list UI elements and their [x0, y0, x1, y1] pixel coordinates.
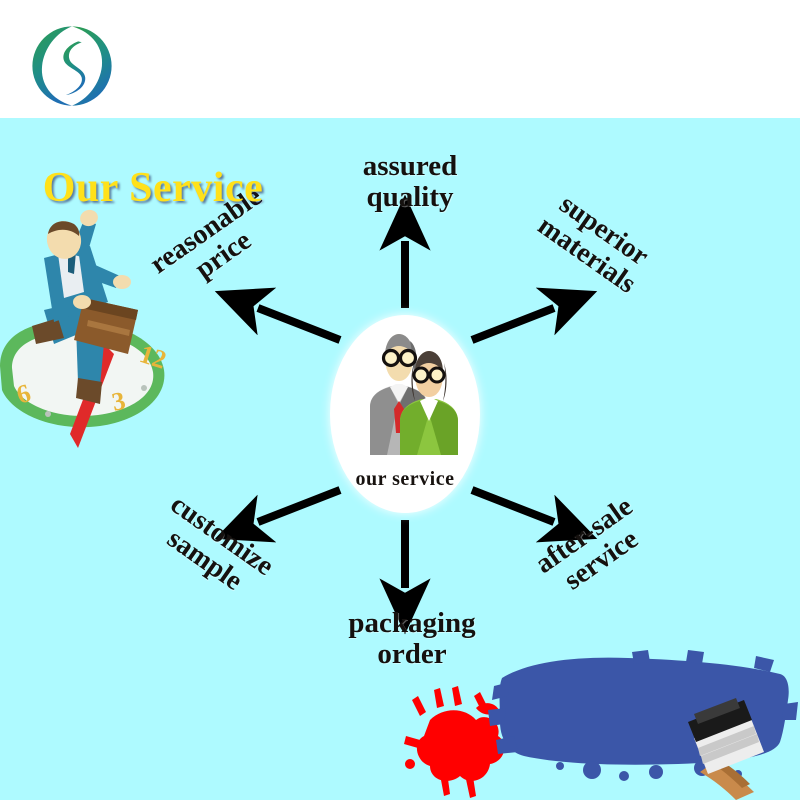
our-service-banner [488, 644, 800, 800]
spoke-label-assured-quality: assured quality [330, 151, 490, 214]
service-diagram-canvas: assured quality reasonable price superio… [0, 118, 800, 800]
our-service-people-icon [340, 329, 470, 455]
banner-title: Our Service [18, 164, 288, 212]
center-caption: our service [330, 468, 480, 491]
infographic-page: assured quality reasonable price superio… [0, 0, 800, 800]
company-logo-icon [28, 22, 116, 110]
spoke-label-packaging-order: packaging order [322, 608, 502, 671]
blue-brush-stroke [488, 650, 798, 781]
header-band [0, 0, 800, 118]
businessman-running-on-clock-illustration: 12 3 6 [0, 198, 182, 448]
center-badge: our service [330, 315, 480, 513]
